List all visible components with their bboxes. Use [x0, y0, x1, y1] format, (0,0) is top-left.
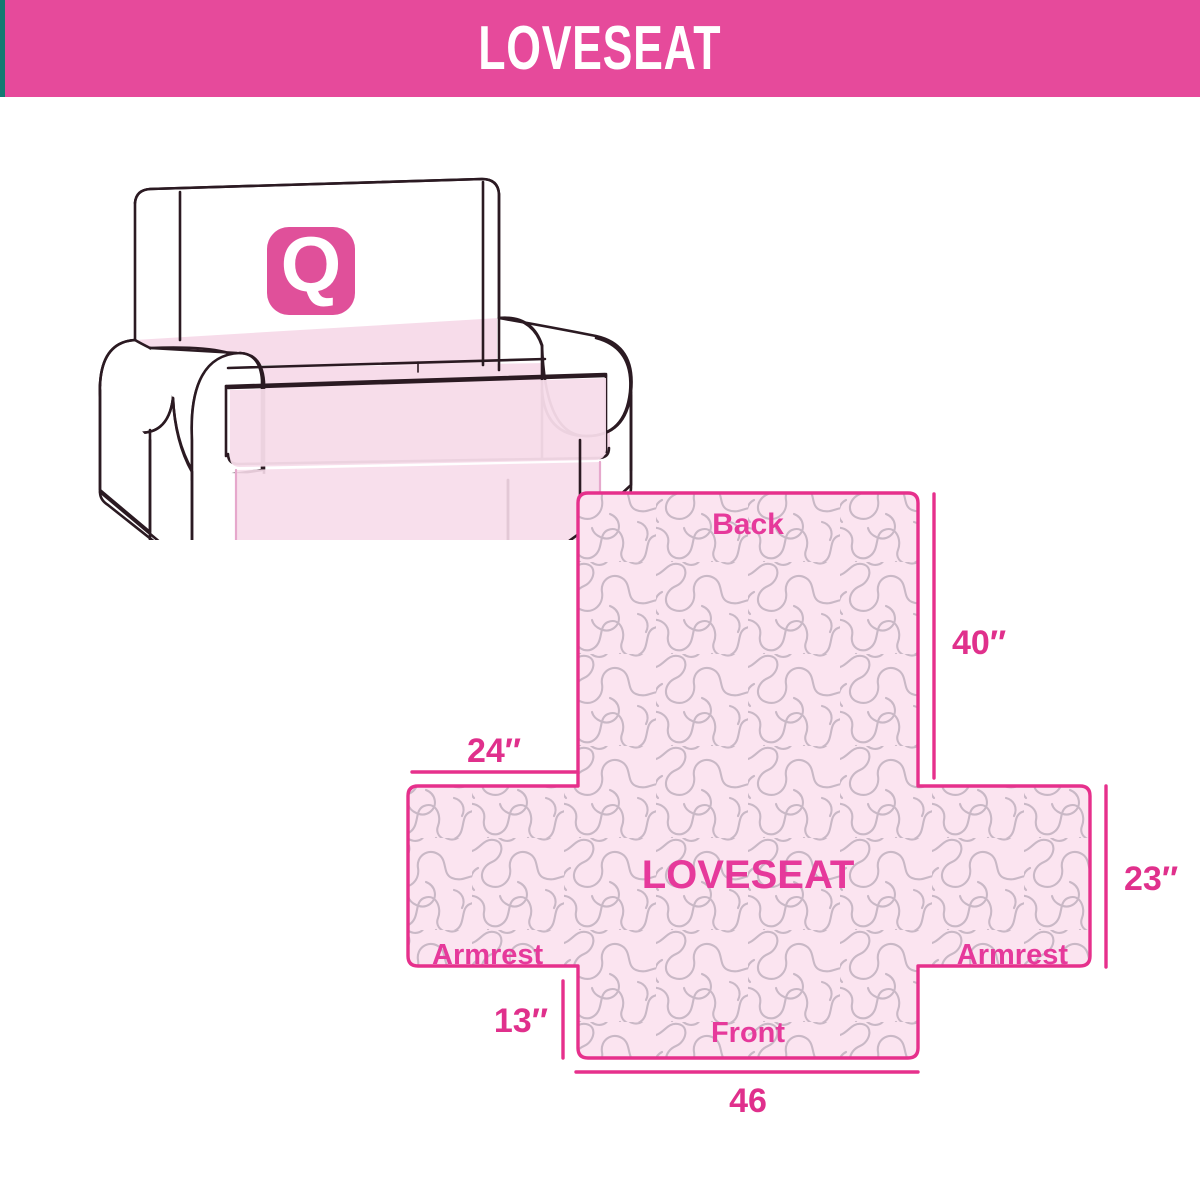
header-accent-stripe — [0, 0, 5, 97]
dimension-value-46: 46 — [729, 1082, 767, 1120]
q-logo: Q — [267, 220, 355, 315]
label-loveseat-center: LOVESEAT — [642, 853, 855, 897]
header-banner: LOVESEAT — [0, 0, 1200, 97]
cover-outline — [408, 493, 1090, 1058]
dimension-back-height: 40″ — [934, 494, 1006, 778]
dimension-front-skirt: 13″ — [494, 981, 563, 1058]
dimension-seat-depth: 23″ — [1106, 786, 1178, 967]
dimension-value-13: 13″ — [494, 1002, 548, 1040]
dimension-value-24: 24″ — [467, 732, 521, 770]
dimension-front-width: 46 — [576, 1072, 918, 1120]
label-armrest-left: Armrest — [432, 939, 544, 971]
dimension-value-40: 40″ — [952, 624, 1006, 662]
label-armrest-right: Armrest — [957, 939, 1069, 971]
svg-text:Q: Q — [281, 220, 342, 308]
page-title: LOVESEAT — [478, 13, 721, 84]
flat-pattern-diagram: Back LOVESEAT Armrest Armrest Front 40″ … — [380, 470, 1200, 1130]
label-front: Front — [711, 1017, 785, 1049]
dimension-armrest-width: 24″ — [412, 732, 576, 772]
dimension-value-23: 23″ — [1124, 860, 1178, 898]
label-back: Back — [712, 508, 784, 541]
